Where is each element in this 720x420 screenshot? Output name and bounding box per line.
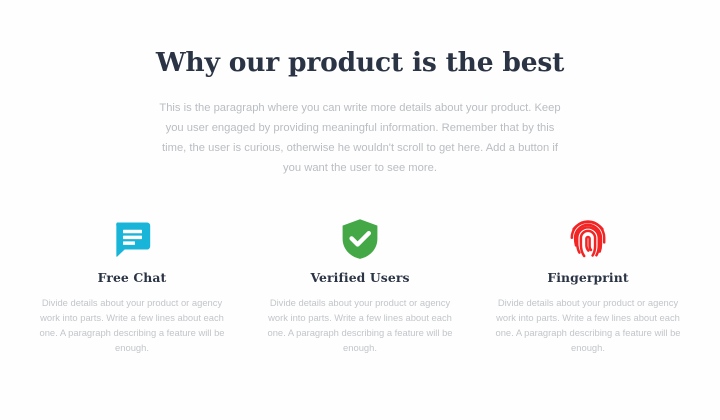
feature-columns: Free Chat Divide details about your prod… bbox=[0, 216, 720, 355]
feature-column: Verified Users Divide details about your… bbox=[246, 216, 474, 355]
feature-description: Divide details about your product or age… bbox=[261, 295, 459, 355]
section-header: Why our product is the best This is the … bbox=[0, 0, 720, 178]
landing-features-section: Why our product is the best This is the … bbox=[0, 0, 720, 420]
feature-description: Divide details about your product or age… bbox=[489, 295, 687, 355]
shield-check-icon bbox=[254, 216, 466, 262]
feature-title: Verified Users bbox=[254, 270, 466, 286]
feature-title: Fingerprint bbox=[482, 270, 694, 286]
chat-bubble-icon bbox=[26, 216, 238, 262]
fingerprint-icon bbox=[482, 216, 694, 262]
feature-title: Free Chat bbox=[26, 270, 238, 286]
feature-column: Free Chat Divide details about your prod… bbox=[18, 216, 246, 355]
section-intro-paragraph: This is the paragraph where you can writ… bbox=[154, 98, 566, 178]
feature-column: Fingerprint Divide details about your pr… bbox=[474, 216, 702, 355]
feature-description: Divide details about your product or age… bbox=[33, 295, 231, 355]
page-title: Why our product is the best bbox=[0, 46, 720, 80]
